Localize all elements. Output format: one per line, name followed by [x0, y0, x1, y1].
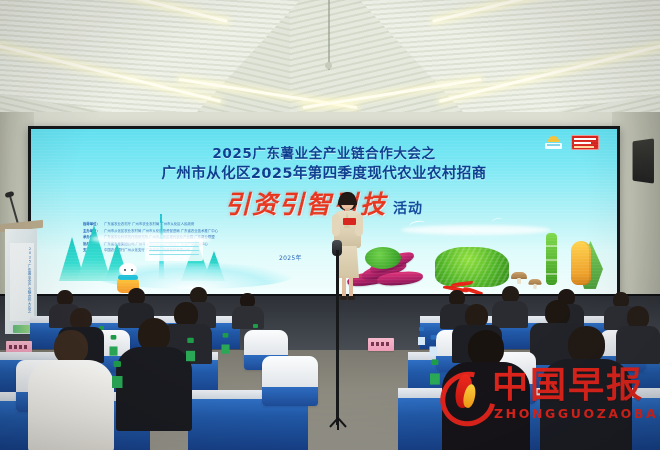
person-body [232, 306, 264, 329]
screenshot-root: 2025广东薯业全产业链合作大会之 广州市从化区2025年第四季度现代农业农村招… [0, 0, 660, 450]
mushroom-icon [511, 272, 527, 283]
corn-cob-graphic [571, 241, 591, 285]
chair [262, 356, 318, 406]
person-head [568, 326, 605, 363]
news-watermark: 中国早报 ZHONGGUOZAOBAO [440, 366, 655, 422]
host-arm-left [332, 214, 340, 236]
flame-torch-icon [440, 370, 492, 418]
led-stage-screen: 2025广东薯业全产业链合作大会之 广州市从化区2025年第四季度现代农业农村招… [28, 126, 620, 298]
host-shoe-right [348, 296, 355, 300]
table-skirt [188, 399, 308, 450]
canton-tower-spire [160, 214, 162, 223]
cloud-wisp [401, 225, 551, 235]
water-bottle [221, 336, 229, 360]
host-leg-right [349, 277, 353, 297]
ceiling-apex-fitting [325, 62, 332, 69]
watermark-chinese-text: 中国早报 [492, 366, 644, 406]
water-bottle [418, 330, 425, 351]
microphone-stand-tripod [316, 418, 360, 430]
banner-title-line2: 广州市从化区2025年第四季度现代农业农村招商 [31, 162, 617, 183]
pink-name-card [368, 338, 394, 351]
ceiling-apex-wire [328, 0, 330, 70]
microphone-stand-pole [336, 250, 339, 425]
audience-person-foreground [28, 330, 114, 450]
bamboo-stalk-graphic [546, 233, 557, 285]
water-bottle [430, 364, 440, 393]
banner-illustration-left [53, 217, 303, 295]
lectern-vertical-text: 2025广东薯业全产业链合作大会之 [12, 247, 32, 317]
cloud-wisp [91, 233, 211, 245]
host-red-card [343, 218, 356, 225]
person-body [116, 347, 192, 431]
host-leg-left [342, 277, 346, 297]
watermark-pinyin-text: ZHONGGUOZAOBAO [494, 406, 660, 421]
person-head [54, 330, 88, 364]
mushroom-icon [528, 279, 541, 288]
host-shoe-left [340, 296, 347, 300]
banner-artwork: 2025广东薯业全产业链合作大会之 广州市从化区2025年第四季度现代农业农村招… [31, 129, 617, 295]
water-bottle [112, 366, 123, 398]
lotus-leaf-graphic [365, 247, 401, 269]
audience-person [232, 293, 264, 327]
person-body [28, 360, 114, 450]
wall-speaker [633, 138, 654, 183]
person-head [468, 330, 504, 366]
ceiling [0, 0, 660, 118]
banner-title-line1: 2025广东薯业全产业链合作大会之 [31, 142, 617, 162]
water-bottle [186, 342, 195, 369]
ceiling-slats [0, 0, 660, 118]
bird-icon [491, 217, 503, 226]
host-hair-front [338, 194, 357, 205]
audience-person-foreground [116, 318, 192, 428]
host-arm-right [355, 214, 363, 236]
